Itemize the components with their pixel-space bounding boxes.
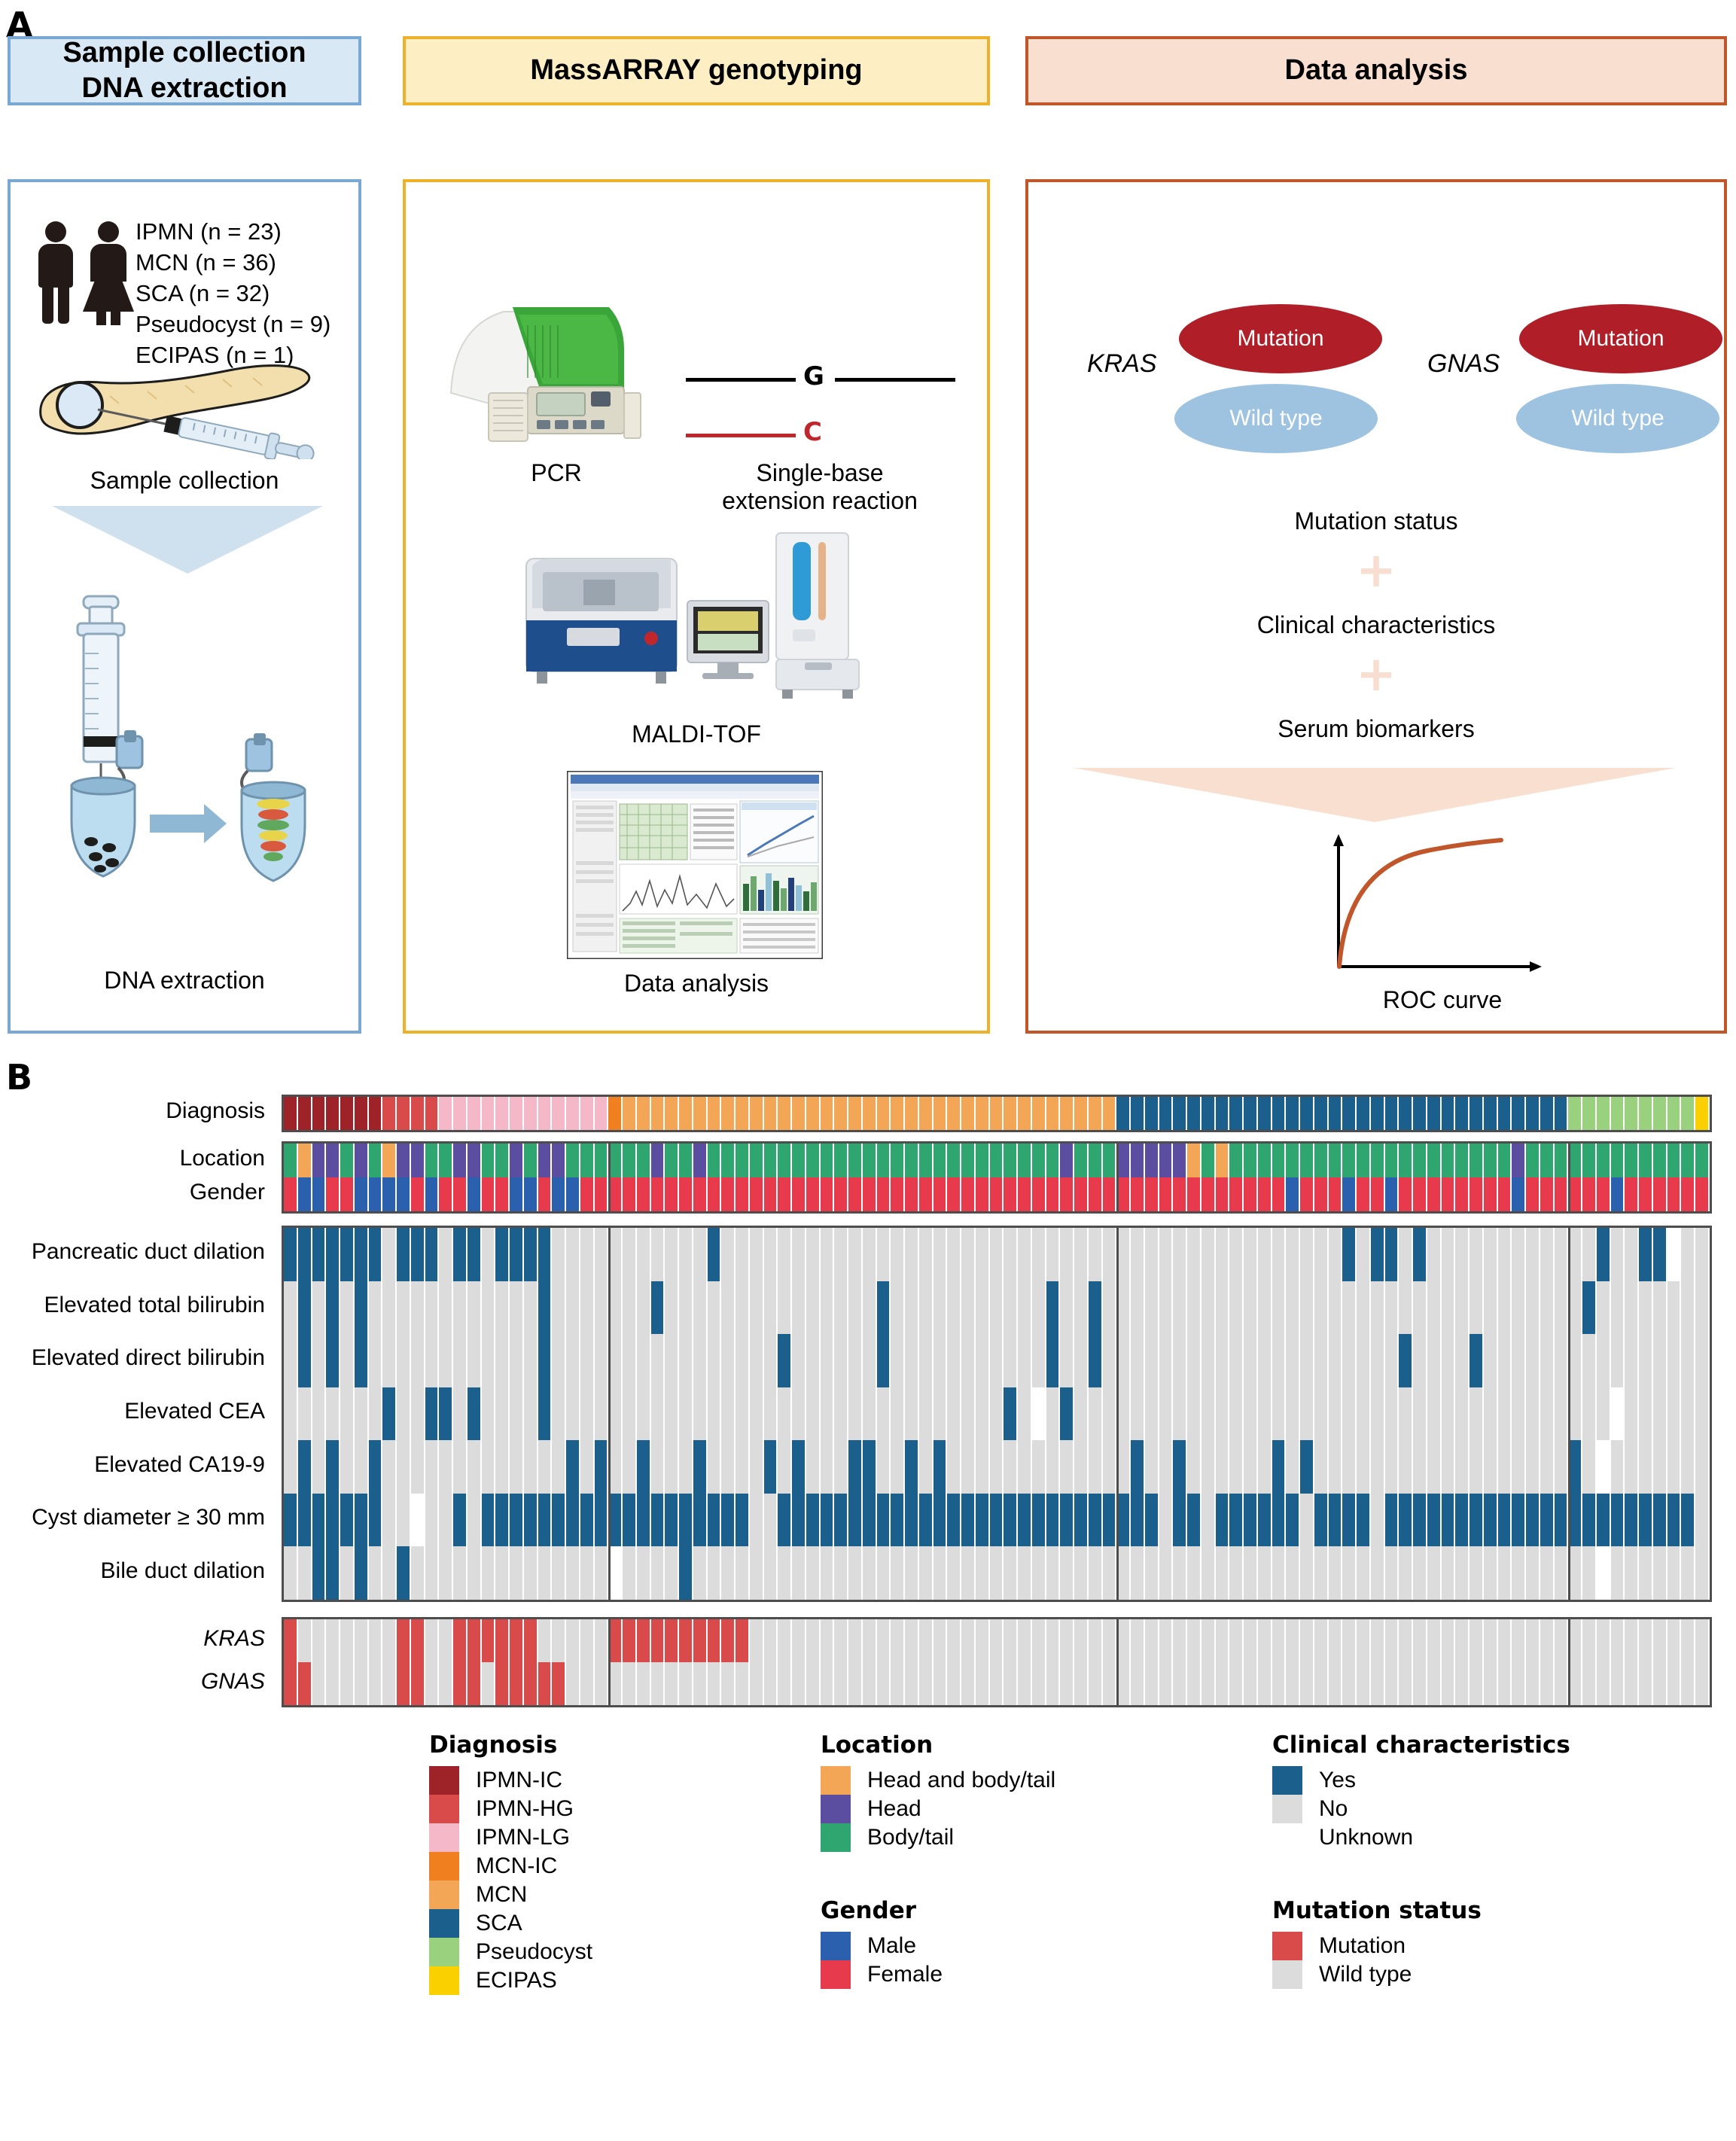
heatmap-cell — [778, 1281, 792, 1335]
heatmap-cell — [1625, 1177, 1639, 1211]
heatmap-cell — [933, 1440, 948, 1494]
heatmap-cell — [1286, 1097, 1300, 1130]
heatmap-cell — [1229, 1334, 1244, 1387]
heatmap-cell — [1611, 1228, 1625, 1281]
heatmap-cell — [538, 1334, 553, 1387]
heatmap-cell — [552, 1334, 566, 1387]
heatmap-cell — [792, 1387, 806, 1441]
heatmap-cell — [1357, 1281, 1371, 1335]
heatmap-cell — [947, 1387, 961, 1441]
heatmap-cell — [439, 1097, 453, 1130]
heatmap-cell — [848, 1334, 863, 1387]
heatmap-cell — [1018, 1097, 1032, 1130]
heatmap-cell — [1427, 1546, 1442, 1600]
heatmap-cell — [1385, 1662, 1399, 1705]
heatmap-cell — [1667, 1440, 1682, 1494]
dna-strand-top-right — [835, 378, 955, 382]
heatmap-cell — [1385, 1387, 1399, 1441]
heatmap-cell — [679, 1177, 693, 1211]
heatmap-cell — [326, 1662, 340, 1705]
heatmap-cell — [1060, 1144, 1074, 1177]
heatmap-cell — [1695, 1334, 1710, 1387]
heatmap-cell — [1046, 1228, 1061, 1281]
heatmap-cell — [1498, 1546, 1512, 1600]
heatmap-cell — [1258, 1387, 1272, 1441]
heatmap-cell — [764, 1281, 778, 1335]
legend-title: Location — [821, 1731, 1055, 1759]
heatmap-cell — [453, 1619, 468, 1662]
heatmap-cell — [1540, 1228, 1555, 1281]
heatmap-cell — [495, 1387, 510, 1441]
heatmap-cell — [355, 1334, 369, 1387]
caption-sbe-line1: Single-base — [669, 459, 970, 487]
heatmap-cell — [1342, 1334, 1357, 1387]
roc-curve-chart — [1329, 831, 1555, 989]
heatmap-cell — [1611, 1334, 1625, 1387]
heatmap-cell — [298, 1619, 312, 1662]
heatmap-cell — [1145, 1662, 1159, 1705]
heatmap-cell — [834, 1281, 848, 1335]
heatmap-cell — [439, 1144, 453, 1177]
heatmap-cell — [453, 1440, 468, 1494]
heatmap-cell — [439, 1619, 453, 1662]
heatmap-cell — [806, 1097, 821, 1130]
heatmap-cell — [1555, 1440, 1569, 1494]
heatmap-cell — [905, 1662, 919, 1705]
heatmap-cell — [1286, 1144, 1300, 1177]
heatmap-cell — [1582, 1546, 1597, 1600]
heatmap-cell — [411, 1334, 425, 1387]
heatmap-cell — [1357, 1440, 1371, 1494]
heatmap-cell — [933, 1144, 948, 1177]
heatmap-cell — [552, 1281, 566, 1335]
legend-item: Head and body/tail — [821, 1766, 1055, 1795]
heatmap-cell — [524, 1546, 538, 1600]
heatmap-cell — [425, 1144, 440, 1177]
heatmap-cell — [848, 1494, 863, 1547]
heatmap-cell — [1159, 1177, 1174, 1211]
heatmap-cell — [1272, 1177, 1287, 1211]
heatmap-cell — [1131, 1494, 1145, 1547]
heatmap-cell — [1258, 1334, 1272, 1387]
heatmap-cell — [1145, 1546, 1159, 1600]
heatmap-cell — [468, 1662, 482, 1705]
heatmap-cell — [1286, 1440, 1300, 1494]
heatmap-cell — [1229, 1097, 1244, 1130]
heatmap-cell — [1681, 1494, 1695, 1547]
heatmap-cell — [1329, 1097, 1343, 1130]
heatmap-cell — [1201, 1387, 1216, 1441]
row-label-kras: KRAS — [0, 1628, 265, 1650]
heatmap-cell — [1032, 1440, 1046, 1494]
heatmap-cell — [1173, 1440, 1187, 1494]
heatmap-cell — [1512, 1440, 1526, 1494]
heatmap-cell — [510, 1494, 524, 1547]
heatmap-cell — [1046, 1097, 1061, 1130]
heatmap-cell — [1229, 1619, 1244, 1662]
heatmap-cell — [1413, 1662, 1427, 1705]
heatmap-cell — [806, 1662, 821, 1705]
heatmap-cell — [764, 1144, 778, 1177]
heatmap-cell — [1145, 1440, 1159, 1494]
heatmap-cell — [411, 1144, 425, 1177]
heatmap-cell — [340, 1546, 355, 1600]
heatmap-cell — [1159, 1097, 1174, 1130]
heatmap-cell — [1611, 1387, 1625, 1441]
heatmap-cell — [1357, 1619, 1371, 1662]
heatmap-cell — [1060, 1662, 1074, 1705]
heatmap-cell — [1597, 1494, 1611, 1547]
heatmap-cell — [637, 1334, 651, 1387]
heatmap-cell — [891, 1097, 905, 1130]
heatmap-cell — [1526, 1387, 1540, 1441]
heatmap-cell — [1244, 1662, 1258, 1705]
heatmap-cell — [1089, 1097, 1103, 1130]
heatmap-cell — [1695, 1662, 1710, 1705]
heatmap-cell — [1540, 1144, 1555, 1177]
heatmap-cell — [1526, 1177, 1540, 1211]
heatmap-cell — [905, 1619, 919, 1662]
heatmap-cell — [1597, 1440, 1611, 1494]
heatmap-cell — [736, 1662, 750, 1705]
heatmap-cell — [1385, 1494, 1399, 1547]
heatmap-cell — [834, 1662, 848, 1705]
heatmap-cell — [1695, 1387, 1710, 1441]
heatmap-cell — [397, 1334, 411, 1387]
heatmap-cell — [1103, 1387, 1117, 1441]
heatmap-cell — [1272, 1387, 1287, 1441]
heatmap-cell — [382, 1494, 397, 1547]
heatmap-cell — [806, 1144, 821, 1177]
heatmap-cell — [510, 1387, 524, 1441]
heatmap-cell — [1484, 1494, 1498, 1547]
heatmap-cell — [792, 1662, 806, 1705]
group-separator — [1568, 1144, 1570, 1211]
heatmap-cell — [679, 1387, 693, 1441]
heatmap-cell — [1272, 1546, 1287, 1600]
heatmap-cell — [1159, 1387, 1174, 1441]
heatmap-cell — [1413, 1494, 1427, 1547]
heatmap-cell — [1413, 1281, 1427, 1335]
heatmap-cell — [976, 1334, 990, 1387]
heatmap-cell — [411, 1662, 425, 1705]
heatmap-cell — [708, 1494, 722, 1547]
heatmap-cell — [1455, 1097, 1470, 1130]
heatmap-cell — [1018, 1144, 1032, 1177]
heatmap-cell — [919, 1177, 933, 1211]
heatmap-cell — [976, 1228, 990, 1281]
heatmap-cell — [1229, 1144, 1244, 1177]
heatmap-cell — [834, 1177, 848, 1211]
heatmap-cell — [736, 1144, 750, 1177]
heatmap-cell — [848, 1177, 863, 1211]
heatmap-cell — [778, 1097, 792, 1130]
heatmap-cell — [736, 1177, 750, 1211]
heatmap-cell — [750, 1662, 764, 1705]
heatmap-cell — [1300, 1228, 1314, 1281]
legend-label: SCA — [476, 1911, 522, 1936]
heatmap-cell — [933, 1228, 948, 1281]
heatmap-cell — [947, 1546, 961, 1600]
heatmap-cell — [1032, 1619, 1046, 1662]
heatmap-cell — [397, 1494, 411, 1547]
heatmap-cell — [1667, 1097, 1682, 1130]
heatmap-cell — [1089, 1494, 1103, 1547]
heatmap-cell — [1329, 1228, 1343, 1281]
stack-label-mutation-status: Mutation status — [1028, 507, 1724, 535]
legend-item: IPMN-IC — [429, 1766, 592, 1795]
heatmap-cell — [905, 1097, 919, 1130]
heatmap-cell — [1498, 1440, 1512, 1494]
heatmap-cell — [538, 1440, 553, 1494]
heatmap-cell — [623, 1097, 637, 1130]
heatmap-cell — [538, 1228, 553, 1281]
heatmap-cell — [284, 1387, 298, 1441]
heatmap-cell — [538, 1494, 553, 1547]
legend-swatch — [429, 1909, 459, 1938]
heatmap-cell — [976, 1662, 990, 1705]
heatmap-cell — [552, 1662, 566, 1705]
heatmap-cell — [990, 1281, 1004, 1335]
heatmap-cell — [580, 1144, 595, 1177]
heatmap-cell — [1229, 1228, 1244, 1281]
legend-title: Clinical characteristics — [1272, 1731, 1570, 1759]
legend-swatch — [429, 1966, 459, 1995]
group-separator — [608, 1228, 611, 1600]
heatmap-cell — [1597, 1228, 1611, 1281]
heatmap-cell — [708, 1662, 722, 1705]
heatmap-cell — [1060, 1546, 1074, 1600]
legend-clinical-characteristics: Clinical characteristicsYesNoUnknown — [1272, 1731, 1570, 1852]
heatmap-cell — [1653, 1662, 1667, 1705]
heatmap-cell — [961, 1662, 976, 1705]
base-letter-c: C — [803, 417, 822, 447]
heatmap-cell — [821, 1097, 835, 1130]
heatmap-cell — [298, 1546, 312, 1600]
heatmap-cell — [1611, 1097, 1625, 1130]
heatmap-cell — [764, 1494, 778, 1547]
heatmap-cell — [326, 1440, 340, 1494]
heatmap-cell — [1300, 1281, 1314, 1335]
heatmap-cell — [382, 1228, 397, 1281]
heatmap-cell — [1653, 1144, 1667, 1177]
heatmap-cell — [1639, 1228, 1653, 1281]
heatmap-cell — [1103, 1097, 1117, 1130]
heatmap-cell — [834, 1546, 848, 1600]
heatmap-cell — [721, 1144, 736, 1177]
dna-extraction-illustration — [37, 589, 338, 890]
heatmap-cell — [495, 1546, 510, 1600]
heatmap-cell — [933, 1662, 948, 1705]
heatmap-cell — [1582, 1281, 1597, 1335]
maldi-tof-instrument-icon — [519, 528, 873, 717]
heatmap-cell — [990, 1177, 1004, 1211]
heatmap-cell — [566, 1662, 580, 1705]
heatmap-cell — [764, 1440, 778, 1494]
heatmap-cell — [750, 1387, 764, 1441]
heatmap-cell — [1201, 1494, 1216, 1547]
heatmap-cell — [891, 1494, 905, 1547]
heatmap-cell — [397, 1228, 411, 1281]
heatmap-cell — [355, 1281, 369, 1335]
row-label-elevated-ca19-9: Elevated CA19-9 — [0, 1454, 265, 1476]
heatmap-cell — [566, 1440, 580, 1494]
heatmap-cell — [566, 1619, 580, 1662]
heatmap-cell — [623, 1494, 637, 1547]
heatmap-cell — [595, 1144, 609, 1177]
heatmap-cell — [1667, 1494, 1682, 1547]
heatmap-cell — [1484, 1281, 1498, 1335]
heatmap-cell — [1611, 1144, 1625, 1177]
heatmap-cell — [312, 1662, 327, 1705]
heatmap-cell — [1145, 1334, 1159, 1387]
heatmap-cell — [1342, 1228, 1357, 1281]
heatmap-cell — [1498, 1387, 1512, 1441]
kras-wildtype-ellipse: Wild type — [1174, 384, 1378, 453]
heatmap-cell — [651, 1387, 665, 1441]
heatmap-cell — [933, 1281, 948, 1335]
heatmap-cell — [1300, 1334, 1314, 1387]
heatmap-cell — [1470, 1662, 1484, 1705]
heatmap-cell — [637, 1546, 651, 1600]
heatmap-cell — [1342, 1662, 1357, 1705]
heatmap-cell — [778, 1387, 792, 1441]
heatmap-cell — [1329, 1281, 1343, 1335]
heatmap-cell — [1427, 1662, 1442, 1705]
row-label-cyst-diameter-30-mm: Cyst diameter ≥ 30 mm — [0, 1506, 265, 1529]
heatmap-cell — [1484, 1440, 1498, 1494]
heatmap-cell — [1244, 1440, 1258, 1494]
plus-sign-2: + — [1028, 650, 1724, 699]
heatmap-cell — [708, 1440, 722, 1494]
heatmap-cell — [340, 1387, 355, 1441]
heatmap-cell — [1329, 1619, 1343, 1662]
heatmap-cell — [1639, 1662, 1653, 1705]
heatmap-cell — [1582, 1619, 1597, 1662]
heatmap-cell — [482, 1619, 496, 1662]
heatmap-cell — [1300, 1619, 1314, 1662]
heatmap-cell — [1695, 1546, 1710, 1600]
group-separator — [608, 1144, 611, 1211]
heatmap-cell — [1089, 1440, 1103, 1494]
heatmap-cell — [1216, 1546, 1230, 1600]
heatmap-cell — [1244, 1387, 1258, 1441]
heatmap-cell — [863, 1228, 877, 1281]
heatmap-cell — [1314, 1281, 1329, 1335]
stack-label-serum-biomarkers: Serum biomarkers — [1028, 715, 1724, 743]
heatmap-cell — [1681, 1177, 1695, 1211]
heatmap-cell — [863, 1177, 877, 1211]
heatmap-cell — [877, 1097, 891, 1130]
heatmap-cell — [1371, 1334, 1385, 1387]
panel-a-body-massarray: PCR G C Single-base extension reaction — [403, 179, 990, 1034]
heatmap-cell — [834, 1619, 848, 1662]
heatmap-cell — [1074, 1546, 1089, 1600]
heatmap-cell — [1639, 1334, 1653, 1387]
legend-mutation-status: Mutation statusMutationWild type — [1272, 1897, 1482, 1989]
heatmap-cell — [1074, 1619, 1089, 1662]
heatmap-cell — [1314, 1546, 1329, 1600]
heatmap-cell — [1187, 1177, 1201, 1211]
heatmap-cell — [1187, 1494, 1201, 1547]
heatmap-cell — [1597, 1387, 1611, 1441]
heatmap-cell — [1004, 1494, 1018, 1547]
heatmap-cell — [1455, 1228, 1470, 1281]
heatmap-cell — [1018, 1387, 1032, 1441]
heatmap-cell — [1145, 1097, 1159, 1130]
heatmap-cell — [411, 1281, 425, 1335]
heatmap-cell — [326, 1281, 340, 1335]
heatmap-cell — [1582, 1440, 1597, 1494]
heatmap-cell — [778, 1228, 792, 1281]
heatmap-cell — [1695, 1440, 1710, 1494]
heatmap-cell — [482, 1546, 496, 1600]
heatmap-cell — [919, 1662, 933, 1705]
heatmap-cell — [1004, 1546, 1018, 1600]
heatmap-cell — [595, 1440, 609, 1494]
heatmap-cell — [863, 1546, 877, 1600]
heatmap-cell — [1286, 1546, 1300, 1600]
heatmap-cell — [566, 1334, 580, 1387]
heatmap-cell — [326, 1334, 340, 1387]
gnas-mutation-ellipse: Mutation — [1519, 304, 1722, 373]
heatmap-cell — [821, 1440, 835, 1494]
heatmap-cell — [312, 1228, 327, 1281]
heatmap-cell — [1103, 1494, 1117, 1547]
heatmap-cell — [947, 1097, 961, 1130]
heatmap-cell — [1173, 1281, 1187, 1335]
heatmap-cell — [524, 1144, 538, 1177]
heatmap-cell — [1145, 1494, 1159, 1547]
legend-title: Diagnosis — [429, 1731, 592, 1759]
heatmap-cell — [1385, 1281, 1399, 1335]
heatmap-cell — [524, 1662, 538, 1705]
heatmap-cell — [1329, 1440, 1343, 1494]
heatmap-cell — [1032, 1334, 1046, 1387]
heatmap-cell — [1470, 1619, 1484, 1662]
heatmap-row-elevated-ca19-9 — [284, 1440, 1710, 1494]
heatmap-cell — [1173, 1662, 1187, 1705]
heatmap-cell — [990, 1097, 1004, 1130]
heatmap-cell — [1145, 1387, 1159, 1441]
heatmap-cell — [298, 1177, 312, 1211]
heatmap-cell — [1004, 1281, 1018, 1335]
heatmap-cell — [468, 1334, 482, 1387]
heatmap-cell — [708, 1177, 722, 1211]
heatmap-cell — [1555, 1546, 1569, 1600]
heatmap-cell — [1342, 1281, 1357, 1335]
heatmap-cell — [665, 1662, 679, 1705]
legend-label: IPMN-HG — [476, 1796, 574, 1822]
heatmap-cell — [1103, 1619, 1117, 1662]
heatmap-cell — [665, 1546, 679, 1600]
heatmap-cell — [1442, 1097, 1456, 1130]
heatmap-cell — [708, 1097, 722, 1130]
caption-data-analysis-middle: Data analysis — [406, 970, 987, 997]
heatmap-cell — [736, 1619, 750, 1662]
heatmap-cell — [1442, 1619, 1456, 1662]
heatmap-cell — [1159, 1662, 1174, 1705]
heatmap-cell — [566, 1177, 580, 1211]
heatmap-cell — [1470, 1144, 1484, 1177]
heatmap-row-elevated-cea — [284, 1387, 1710, 1441]
heatmap-cell — [1103, 1334, 1117, 1387]
heatmap-cell — [1159, 1494, 1174, 1547]
heatmap-cell — [919, 1546, 933, 1600]
heatmap-cell — [1103, 1281, 1117, 1335]
heatmap-cell — [821, 1387, 835, 1441]
heatmap-cell — [708, 1546, 722, 1600]
